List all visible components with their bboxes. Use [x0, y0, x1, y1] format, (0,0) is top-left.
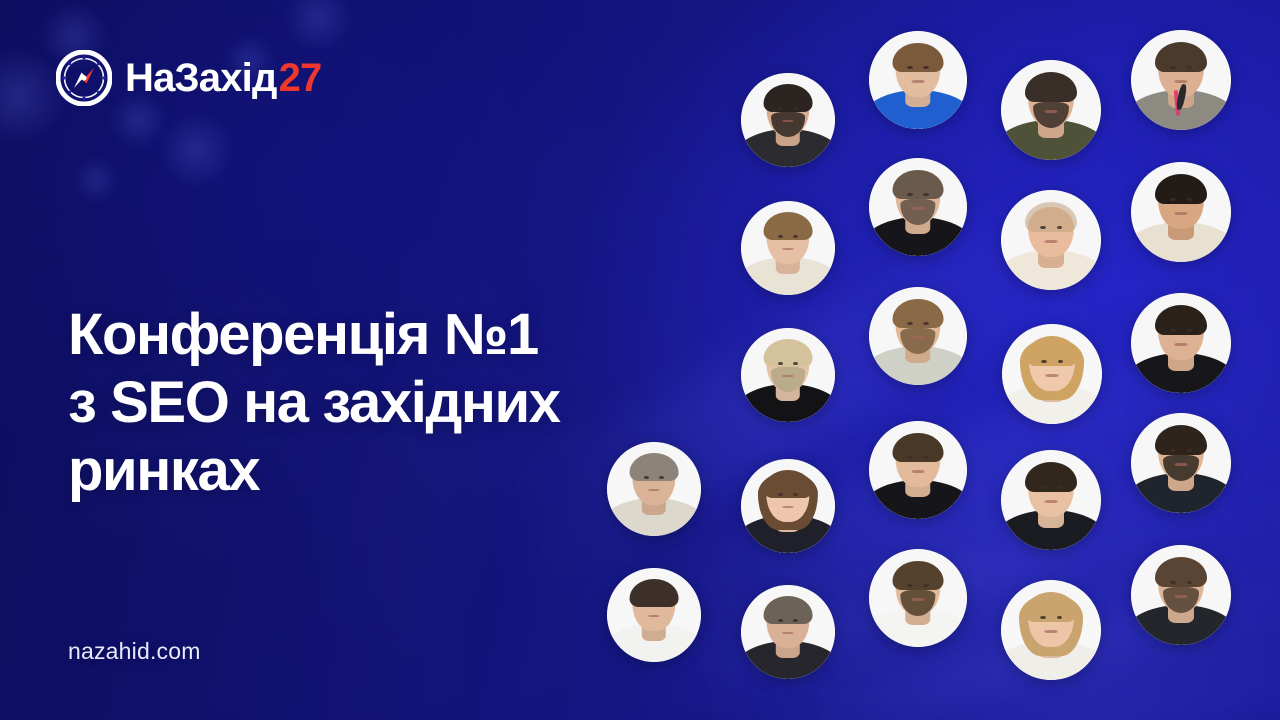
speaker-avatar[interactable]	[869, 158, 967, 256]
speaker-avatar[interactable]	[1131, 545, 1231, 645]
speaker-avatar-grid	[0, 0, 1280, 720]
speaker-avatar[interactable]	[1001, 60, 1101, 160]
speaker-photo	[607, 568, 701, 662]
speaker-avatar[interactable]	[1131, 30, 1231, 130]
speaker-avatar[interactable]	[1131, 293, 1231, 393]
speaker-photo	[741, 459, 835, 553]
speaker-photo	[741, 328, 835, 422]
speaker-photo	[869, 549, 967, 647]
speaker-photo	[1131, 545, 1231, 645]
speaker-avatar[interactable]	[869, 31, 967, 129]
speaker-photo	[741, 73, 835, 167]
speaker-photo	[1001, 450, 1101, 550]
speaker-avatar[interactable]	[741, 73, 835, 167]
speaker-avatar[interactable]	[607, 442, 701, 536]
speaker-avatar[interactable]	[741, 328, 835, 422]
speaker-photo	[607, 442, 701, 536]
speaker-avatar[interactable]	[607, 568, 701, 662]
speaker-avatar[interactable]	[1001, 190, 1101, 290]
speaker-photo	[741, 201, 835, 295]
speaker-photo	[1001, 580, 1101, 680]
speaker-avatar[interactable]	[869, 421, 967, 519]
speaker-avatar[interactable]	[741, 459, 835, 553]
speaker-avatar[interactable]	[1001, 580, 1101, 680]
speaker-photo	[1131, 162, 1231, 262]
speaker-photo	[869, 287, 967, 385]
speaker-photo	[1131, 293, 1231, 393]
speaker-photo	[869, 31, 967, 129]
speaker-photo	[1131, 413, 1231, 513]
speaker-avatar[interactable]	[741, 585, 835, 679]
speaker-avatar[interactable]	[1131, 162, 1231, 262]
speaker-photo	[1001, 60, 1101, 160]
speaker-photo	[1002, 324, 1102, 424]
speaker-photo	[1001, 190, 1101, 290]
speaker-avatar[interactable]	[869, 287, 967, 385]
speaker-avatar[interactable]	[869, 549, 967, 647]
speaker-photo	[869, 421, 967, 519]
speaker-avatar[interactable]	[1131, 413, 1231, 513]
speaker-avatar[interactable]	[1001, 450, 1101, 550]
speaker-avatar[interactable]	[741, 201, 835, 295]
speaker-photo	[741, 585, 835, 679]
promo-banner: НаЗахід27 Конференція №1 з SEO на західн…	[0, 0, 1280, 720]
speaker-avatar[interactable]	[1002, 324, 1102, 424]
speaker-photo	[1131, 30, 1231, 130]
speaker-photo	[869, 158, 967, 256]
